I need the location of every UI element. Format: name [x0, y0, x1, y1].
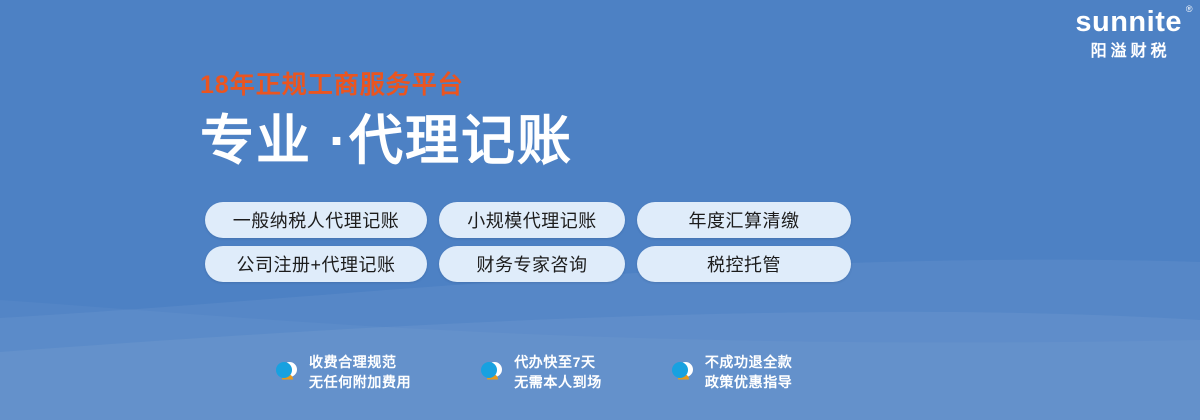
feature-item-speed: 代办快至7天 无需本人到场	[477, 352, 602, 393]
hero-text-block: 18年正规工商服务平台 专业 ·代理记账	[200, 72, 573, 172]
brand-logo[interactable]: sunnite ® 阳溢财税	[1075, 8, 1182, 60]
service-pill-company-registration[interactable]: 公司注册+代理记账	[205, 246, 427, 282]
feature-text-refund: 不成功退全款 政策优惠指导	[705, 352, 793, 393]
hero-eyebrow: 18年正规工商服务平台	[200, 72, 573, 100]
feature-line-1: 不成功退全款	[705, 352, 793, 372]
feature-item-pricing: 收费合理规范 无任何附加费用	[272, 352, 411, 393]
feature-line-2: 政策优惠指导	[705, 372, 793, 392]
logo-chinese-name: 阳溢财税	[1075, 44, 1182, 60]
feature-line-2: 无需本人到场	[514, 372, 602, 392]
feature-item-refund: 不成功退全款 政策优惠指导	[668, 352, 793, 393]
circle-crescent-icon	[477, 358, 505, 386]
feature-text-speed: 代办快至7天 无需本人到场	[514, 352, 602, 393]
circle-crescent-icon	[272, 358, 300, 386]
service-pill-row: 公司注册+代理记账 财务专家咨询 税控托管	[205, 246, 851, 282]
service-pill-annual-settlement[interactable]: 年度汇算清缴	[637, 202, 851, 238]
feature-line-1: 收费合理规范	[309, 352, 411, 372]
circle-crescent-icon	[668, 358, 696, 386]
service-pill-tax-control-hosting[interactable]: 税控托管	[637, 246, 851, 282]
service-pill-general-taxpayer[interactable]: 一般纳税人代理记账	[205, 202, 427, 238]
feature-list: 收费合理规范 无任何附加费用 代办快至7天 无需本人到场	[272, 352, 792, 393]
logo-wordmark: sunnite ®	[1075, 8, 1182, 37]
feature-line-2: 无任何附加费用	[309, 372, 411, 392]
service-pill-grid: 一般纳税人代理记账 小规模代理记账 年度汇算清缴 公司注册+代理记账 财务专家咨…	[205, 202, 851, 290]
promo-banner: sunnite ® 阳溢财税 18年正规工商服务平台 专业 ·代理记账 一般纳税…	[0, 0, 1200, 420]
feature-text-pricing: 收费合理规范 无任何附加费用	[309, 352, 411, 393]
service-pill-expert-consulting[interactable]: 财务专家咨询	[439, 246, 625, 282]
feature-line-1: 代办快至7天	[514, 352, 602, 372]
hero-headline: 专业 ·代理记账	[200, 110, 573, 172]
service-pill-small-scale[interactable]: 小规模代理记账	[439, 202, 625, 238]
logo-wordmark-text: sunnite	[1075, 6, 1182, 38]
service-pill-row: 一般纳税人代理记账 小规模代理记账 年度汇算清缴	[205, 202, 851, 238]
registered-trademark-icon: ®	[1186, 5, 1193, 14]
